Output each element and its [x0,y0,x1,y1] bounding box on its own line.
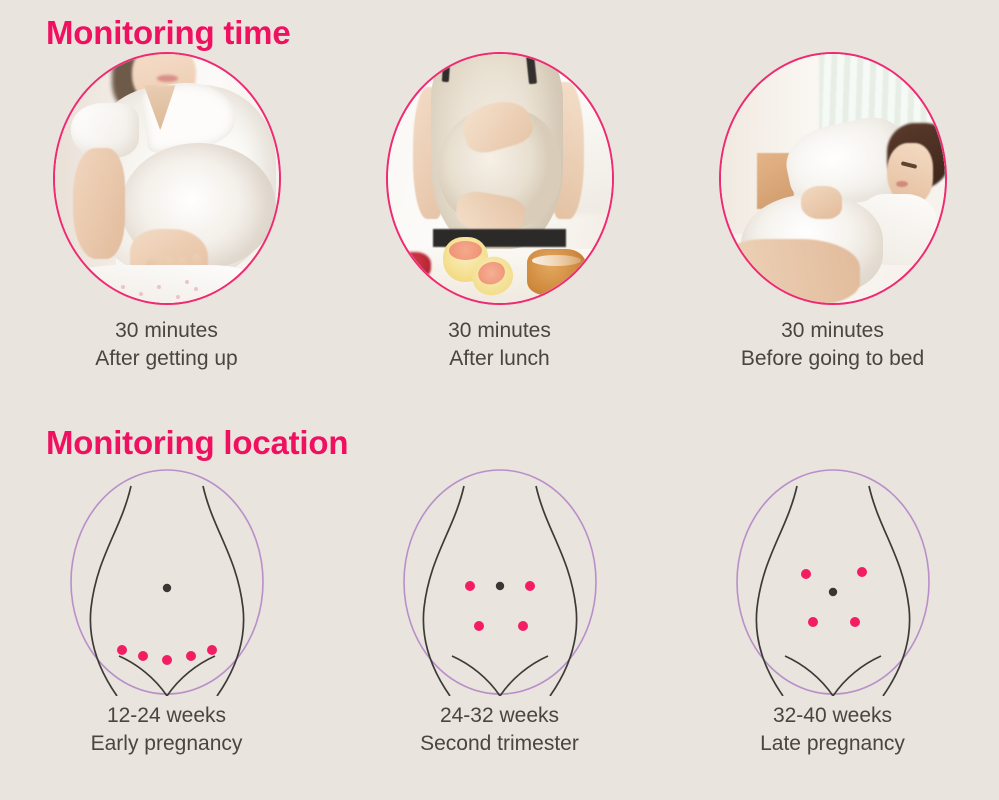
photo-before-going-to-bed [719,52,947,305]
caption-line-1: 30 minutes [781,319,884,342]
monitoring-location-item-second-trimester: 24-32 weeks Second trimester [333,468,666,768]
caption-late-pregnancy: 32-40 weeks Late pregnancy [760,702,905,757]
navel-marker [828,588,836,596]
monitoring-time-item-before-going-to-bed: 30 minutes Before going to bed [666,52,999,387]
caption-line-1: 30 minutes [115,319,218,342]
torso-outline-left [90,486,131,696]
caption-line-2: Early pregnancy [91,730,243,758]
monitor-dot [850,617,860,627]
caption-before-going-to-bed: 30 minutes Before going to bed [741,317,924,372]
caption-after-lunch: 30 minutes After lunch [448,317,551,372]
caption-line-1: 24-32 weeks [440,704,559,727]
navel-marker [495,582,503,590]
torso-outline-left [423,486,464,696]
photo-after-getting-up [53,52,281,305]
monitor-dot [474,621,484,631]
monitor-dot [465,581,475,591]
monitoring-location-item-late-pregnancy: 32-40 weeks Late pregnancy [666,468,999,768]
caption-after-getting-up: 30 minutes After getting up [95,317,237,372]
torso-outline-left [756,486,797,696]
caption-line-2: Second trimester [420,730,579,758]
monitoring-location-row: 12-24 weeks Early pregnancy 24-32 weeks … [0,468,999,768]
monitor-dot [207,645,217,655]
diagram-early-pregnancy [69,468,265,696]
caption-line-2: After lunch [448,345,551,373]
monitor-dot [808,617,818,627]
diagram-second-trimester [402,468,598,696]
monitoring-location-item-early-pregnancy: 12-24 weeks Early pregnancy [0,468,333,768]
caption-line-1: 30 minutes [448,319,551,342]
monitor-dot [117,645,127,655]
caption-line-1: 12-24 weeks [107,704,226,727]
torso-outline-right [203,486,244,696]
monitor-dot [162,655,172,665]
monitor-dot [525,581,535,591]
diagram-circle-outline [737,470,929,694]
diagram-late-pregnancy [735,468,931,696]
torso-outline-right [536,486,577,696]
caption-second-trimester: 24-32 weeks Second trimester [420,702,579,757]
monitoring-time-item-after-getting-up: 30 minutes After getting up [0,52,333,387]
photo-after-lunch [386,52,614,305]
monitor-dot [186,651,196,661]
monitoring-time-row: 30 minutes After getting up [0,52,999,387]
monitor-dot [518,621,528,631]
caption-line-2: Before going to bed [741,345,924,373]
monitor-dot [801,569,811,579]
caption-line-1: 32-40 weeks [773,704,892,727]
caption-line-2: After getting up [95,345,237,373]
caption-early-pregnancy: 12-24 weeks Early pregnancy [91,702,243,757]
navel-marker [162,584,170,592]
monitor-dot [138,651,148,661]
section-heading-monitoring-time: Monitoring time [46,14,290,52]
caption-line-2: Late pregnancy [760,730,905,758]
monitor-dot [857,567,867,577]
section-heading-monitoring-location: Monitoring location [46,424,348,462]
monitoring-time-item-after-lunch: 30 minutes After lunch [333,52,666,387]
torso-outline-right [869,486,910,696]
